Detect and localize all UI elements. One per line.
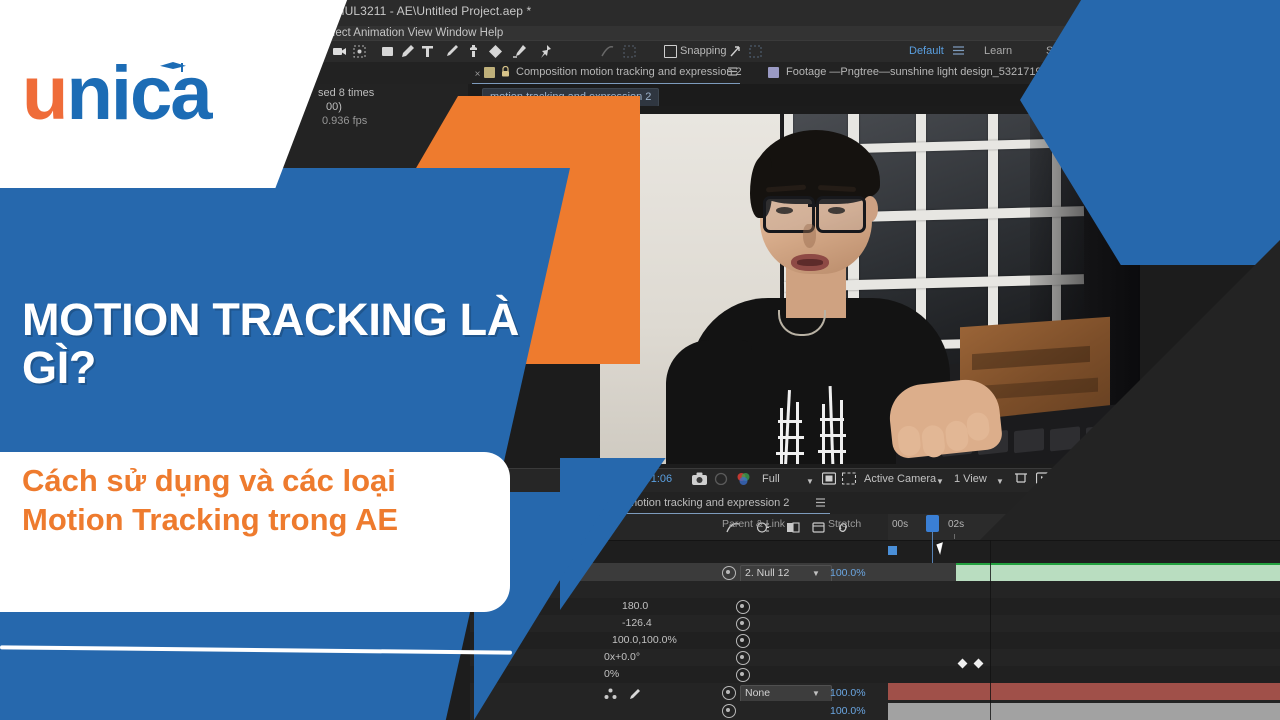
table-row[interactable] xyxy=(470,632,1280,650)
snapping-label: Snapping xyxy=(680,45,727,57)
table-row[interactable] xyxy=(470,615,1280,633)
grid-tool-icon[interactable] xyxy=(622,44,637,59)
camera-view-value[interactable]: Active Camera xyxy=(864,473,936,485)
table-row[interactable] xyxy=(470,581,1280,599)
page-title: MOTION TRACKING LÀ GÌ? xyxy=(22,296,582,391)
stretch-value[interactable]: 100.0% xyxy=(830,567,866,579)
shape-tool-icon[interactable] xyxy=(380,44,395,59)
snap-grid-icon[interactable] xyxy=(748,44,763,59)
logo-letter-u: u xyxy=(22,51,66,136)
view-count-value[interactable]: 1 View xyxy=(954,473,987,485)
playhead-handle[interactable] xyxy=(926,515,939,532)
parent-chevron-down-icon[interactable]: ▼ xyxy=(812,569,820,578)
table-row[interactable] xyxy=(470,598,1280,616)
table-row[interactable] xyxy=(470,649,1280,667)
workspace-tab-learn[interactable]: Learn xyxy=(984,45,1012,57)
property-value-anchor[interactable]: 180.0 xyxy=(622,600,648,612)
roto-brush-tool-icon[interactable] xyxy=(512,44,527,59)
property-value-opacity[interactable]: 0% xyxy=(604,668,619,680)
frame-blend-icon[interactable] xyxy=(786,521,800,534)
camera-view-chevron-down-icon[interactable]: ▼ xyxy=(936,477,944,486)
timeline-tab-label[interactable]: motion tracking and expression 2 xyxy=(628,497,789,509)
project-line-2: sed 8 times xyxy=(318,87,374,99)
footage-tab-swatch xyxy=(768,67,779,78)
workspace-tab-default[interactable]: Default xyxy=(909,45,944,57)
panel-tab-footage[interactable]: Footage —Pngtree—sunshine light design_5… xyxy=(786,66,1063,78)
camera-tool-icon[interactable] xyxy=(332,44,347,59)
composition-frame[interactable] xyxy=(600,114,1140,464)
parent-pickwhip-icon[interactable] xyxy=(722,566,736,580)
layer-bar-grey[interactable] xyxy=(888,703,1280,720)
pen-tool-icon[interactable] xyxy=(400,44,415,59)
rotation-tool-icon[interactable] xyxy=(352,44,367,59)
property-value-rotation[interactable]: 0x+0.0° xyxy=(604,651,640,663)
layer-bar-green[interactable] xyxy=(956,563,1280,581)
subtitle-text: Cách sử dụng và các loại Motion Tracking… xyxy=(22,462,442,540)
snap-arrow-icon[interactable] xyxy=(728,44,743,59)
ruler-tick-00s: 00s xyxy=(892,519,908,530)
stretch-value[interactable]: 100.0% xyxy=(830,705,866,717)
column-header-parent-link: Parent & Link xyxy=(722,518,785,530)
lock-icon[interactable] xyxy=(501,66,516,81)
thumbnail-canvas: ts - D:\FPT\MUL3211 - AE\Untitled Projec… xyxy=(0,0,1280,720)
column-header-stretch: Stretch xyxy=(828,518,861,530)
table-row[interactable] xyxy=(470,666,1280,684)
video-frame-image xyxy=(600,114,1140,464)
channel-color-icon[interactable] xyxy=(736,472,751,491)
eraser-tool-icon[interactable] xyxy=(488,44,503,59)
panel-tab-composition[interactable]: Composition motion tracking and expressi… xyxy=(516,66,742,78)
show-snapshot-icon[interactable] xyxy=(714,472,728,490)
property-value-scale[interactable]: 100.0,100.0% xyxy=(612,634,677,646)
brush-tool-icon[interactable] xyxy=(444,44,459,59)
composition-panel-menu-icon[interactable] xyxy=(727,66,742,81)
property-stopwatch-icon[interactable] xyxy=(736,600,750,614)
property-stopwatch-icon[interactable] xyxy=(736,651,750,665)
logo-letters-nica: nica xyxy=(66,51,210,136)
type-tool-icon[interactable] xyxy=(420,44,435,59)
project-line-3: 00) xyxy=(326,101,342,113)
ruler-tick-02s: 02s xyxy=(948,519,964,530)
work-area-end-line xyxy=(990,532,991,720)
resolution-chevron-down-icon[interactable]: ▼ xyxy=(806,477,814,486)
parent-chevron-down-icon[interactable]: ▼ xyxy=(812,689,820,698)
layer-bar-red[interactable] xyxy=(888,683,1280,700)
mask-feather-tool-icon[interactable] xyxy=(600,44,615,59)
close-panel-icon[interactable]: × xyxy=(470,67,485,82)
parent-pickwhip-icon[interactable] xyxy=(722,686,736,700)
workspace-menu-icon[interactable] xyxy=(952,44,967,59)
property-stopwatch-icon[interactable] xyxy=(736,617,750,631)
snapshot-camera-icon[interactable] xyxy=(692,472,707,490)
timeline-panel-menu-icon[interactable] xyxy=(815,497,830,512)
composition-tab-swatch xyxy=(484,67,495,78)
region-of-interest-icon[interactable] xyxy=(822,472,836,490)
stretch-value[interactable]: 100.0% xyxy=(830,687,866,699)
project-line-4: 0.936 fps xyxy=(322,115,367,127)
property-value-position[interactable]: -126.4 xyxy=(622,617,652,629)
snapping-checkbox[interactable] xyxy=(664,45,677,58)
layer-3d-icon[interactable] xyxy=(604,687,618,700)
property-stopwatch-icon[interactable] xyxy=(736,634,750,648)
graduation-cap-icon xyxy=(160,62,186,71)
transparency-grid-icon[interactable] xyxy=(842,472,856,490)
parent-pickwhip-icon[interactable] xyxy=(722,704,736,718)
resolution-value[interactable]: Full xyxy=(762,473,780,485)
pixel-aspect-icon[interactable] xyxy=(1014,472,1028,490)
shy-layers-icon[interactable] xyxy=(812,521,826,534)
view-count-chevron-down-icon[interactable]: ▼ xyxy=(996,477,1004,486)
property-stopwatch-icon[interactable] xyxy=(736,668,750,682)
clone-stamp-tool-icon[interactable] xyxy=(466,44,481,59)
puppet-pin-tool-icon[interactable] xyxy=(538,44,553,59)
layer-pen-icon[interactable] xyxy=(628,687,642,700)
